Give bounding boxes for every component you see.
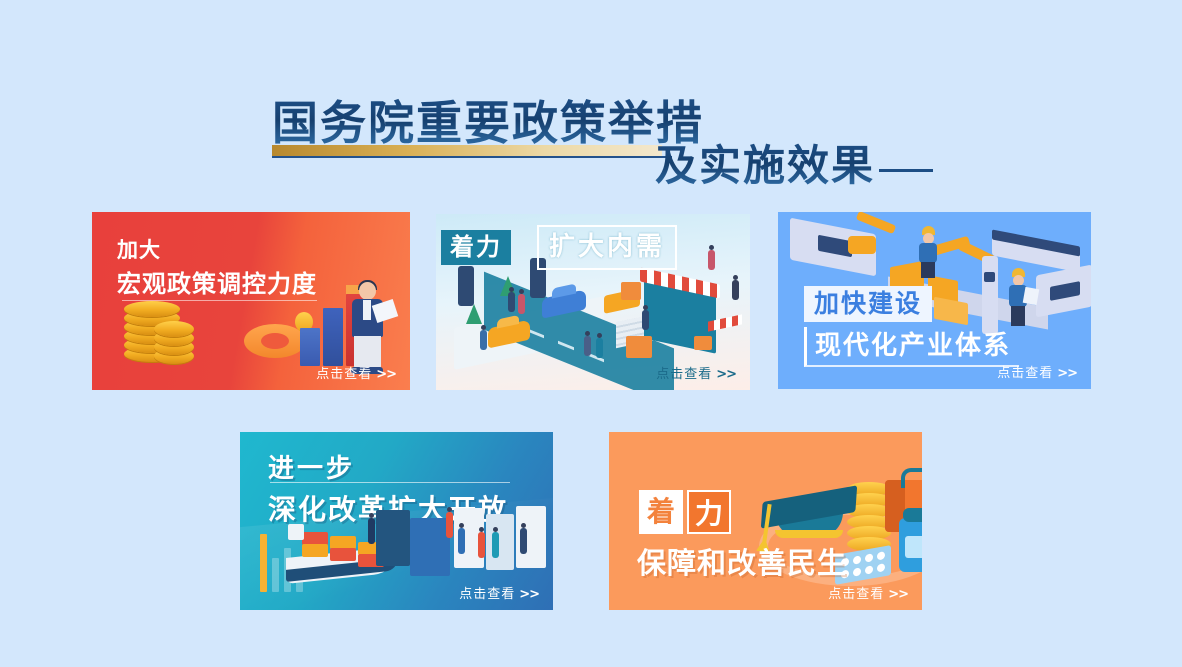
card4-cta[interactable]: 点击查看>>: [459, 583, 539, 602]
title-blue-underline: [272, 156, 672, 158]
visitor-icon: [478, 532, 485, 558]
exhibition-booth: [410, 518, 450, 576]
robot-arm-joint: [848, 236, 876, 254]
pedestrian-icon: [708, 250, 715, 270]
card3-title-line2: 现代化产业体系: [804, 327, 1019, 367]
pedestrian-icon: [732, 280, 739, 300]
medicine-jar-cap: [903, 508, 922, 522]
card4-cta-label: 点击查看: [459, 587, 515, 602]
card-modern-industrial-system[interactable]: 加快建设 现代化产业体系 点击查看>>: [778, 212, 1091, 389]
parcel-box-icon: [694, 336, 712, 350]
page-title-line1: 国务院重要政策举措: [272, 98, 704, 148]
card3-cta-label: 点击查看: [997, 366, 1053, 381]
card4-title-line1: 进一步: [268, 448, 355, 485]
card4-divider: [270, 482, 510, 483]
briefcase-handle: [901, 468, 922, 488]
card2-cta-label: 点击查看: [656, 367, 712, 382]
bar-chart-bar-2: [323, 308, 343, 366]
visitor-icon: [446, 512, 453, 538]
card1-title-line1: 加大: [117, 234, 161, 264]
card5-title-line2: 保障和改善民生: [637, 540, 847, 582]
card5-cta-label: 点击查看: [828, 587, 884, 602]
pedestrian-icon: [480, 330, 487, 350]
pedestrian-icon: [596, 338, 603, 358]
medicine-jar-label: [905, 536, 922, 558]
shipping-container: [302, 544, 328, 557]
visitor-icon: [492, 532, 499, 558]
parcel-box-icon: [621, 282, 641, 300]
pedestrian-icon: [584, 336, 591, 356]
support-column: [982, 256, 998, 334]
card4-cta-arrows: >>: [519, 587, 539, 602]
card2-title-badge-filled: 着力: [441, 230, 511, 265]
visitor-icon: [458, 528, 465, 554]
title-gold-underline: [272, 145, 662, 156]
exhibition-booth: [486, 514, 514, 570]
card5-cta-arrows: >>: [888, 587, 908, 602]
visitor-icon: [520, 528, 527, 554]
pedestrian-icon: [642, 310, 649, 330]
pedestrian-icon: [508, 292, 515, 312]
machine-indicator: [984, 272, 995, 282]
pedestrian-icon: [518, 294, 525, 314]
shipping-container: [330, 548, 356, 561]
exhibition-booth: [376, 510, 410, 566]
bar-chart-bar-1: [300, 328, 320, 366]
card5-cta[interactable]: 点击查看>>: [828, 583, 908, 602]
card2-cta-arrows: >>: [716, 367, 736, 382]
charging-pillar-icon: [458, 266, 474, 306]
graduation-cap-band: [775, 530, 843, 538]
card5-title-badge-b: 力: [687, 490, 731, 534]
page-title-line2: 及实施效果: [655, 143, 875, 189]
businessman-illustration: [346, 282, 392, 374]
parcel-box-icon: [626, 336, 652, 358]
card1-cta-label: 点击查看: [316, 367, 372, 382]
coin-stack-small-icon: [154, 324, 194, 364]
visitor-icon: [368, 518, 375, 544]
card3-cta-arrows: >>: [1057, 366, 1077, 381]
ship-bridge: [288, 524, 304, 540]
worker-illustration: [916, 226, 940, 278]
tree-icon: [466, 304, 482, 324]
card-improve-peoples-livelihood[interactable]: 着 力 保障和改善民生 点击查看>>: [609, 432, 922, 610]
card5-title-badge-a: 着: [639, 490, 683, 534]
worker-illustration: [1006, 268, 1030, 326]
card3-title-line1: 加快建设: [804, 286, 932, 322]
card-macro-policy[interactable]: 加大 宏观政策调控力度 点击查看>>: [92, 212, 410, 390]
card1-cta[interactable]: 点击查看>>: [316, 363, 396, 382]
page-header: 国务院重要政策举措 及实施效果: [0, 46, 1182, 166]
card1-title-line2: 宏观政策调控力度: [117, 264, 317, 299]
title-trailing-dash: [879, 169, 933, 172]
card-expand-domestic-demand[interactable]: 着力 扩大内需 点击查看>>: [436, 214, 750, 390]
card-deepen-reform-opening-up[interactable]: 进一步 深化改革扩大开放 点击查看>>: [240, 432, 553, 610]
card1-cta-arrows: >>: [376, 367, 396, 382]
card2-cta[interactable]: 点击查看>>: [656, 363, 736, 382]
card2-title-badge-outlined: 扩大内需: [537, 225, 677, 270]
